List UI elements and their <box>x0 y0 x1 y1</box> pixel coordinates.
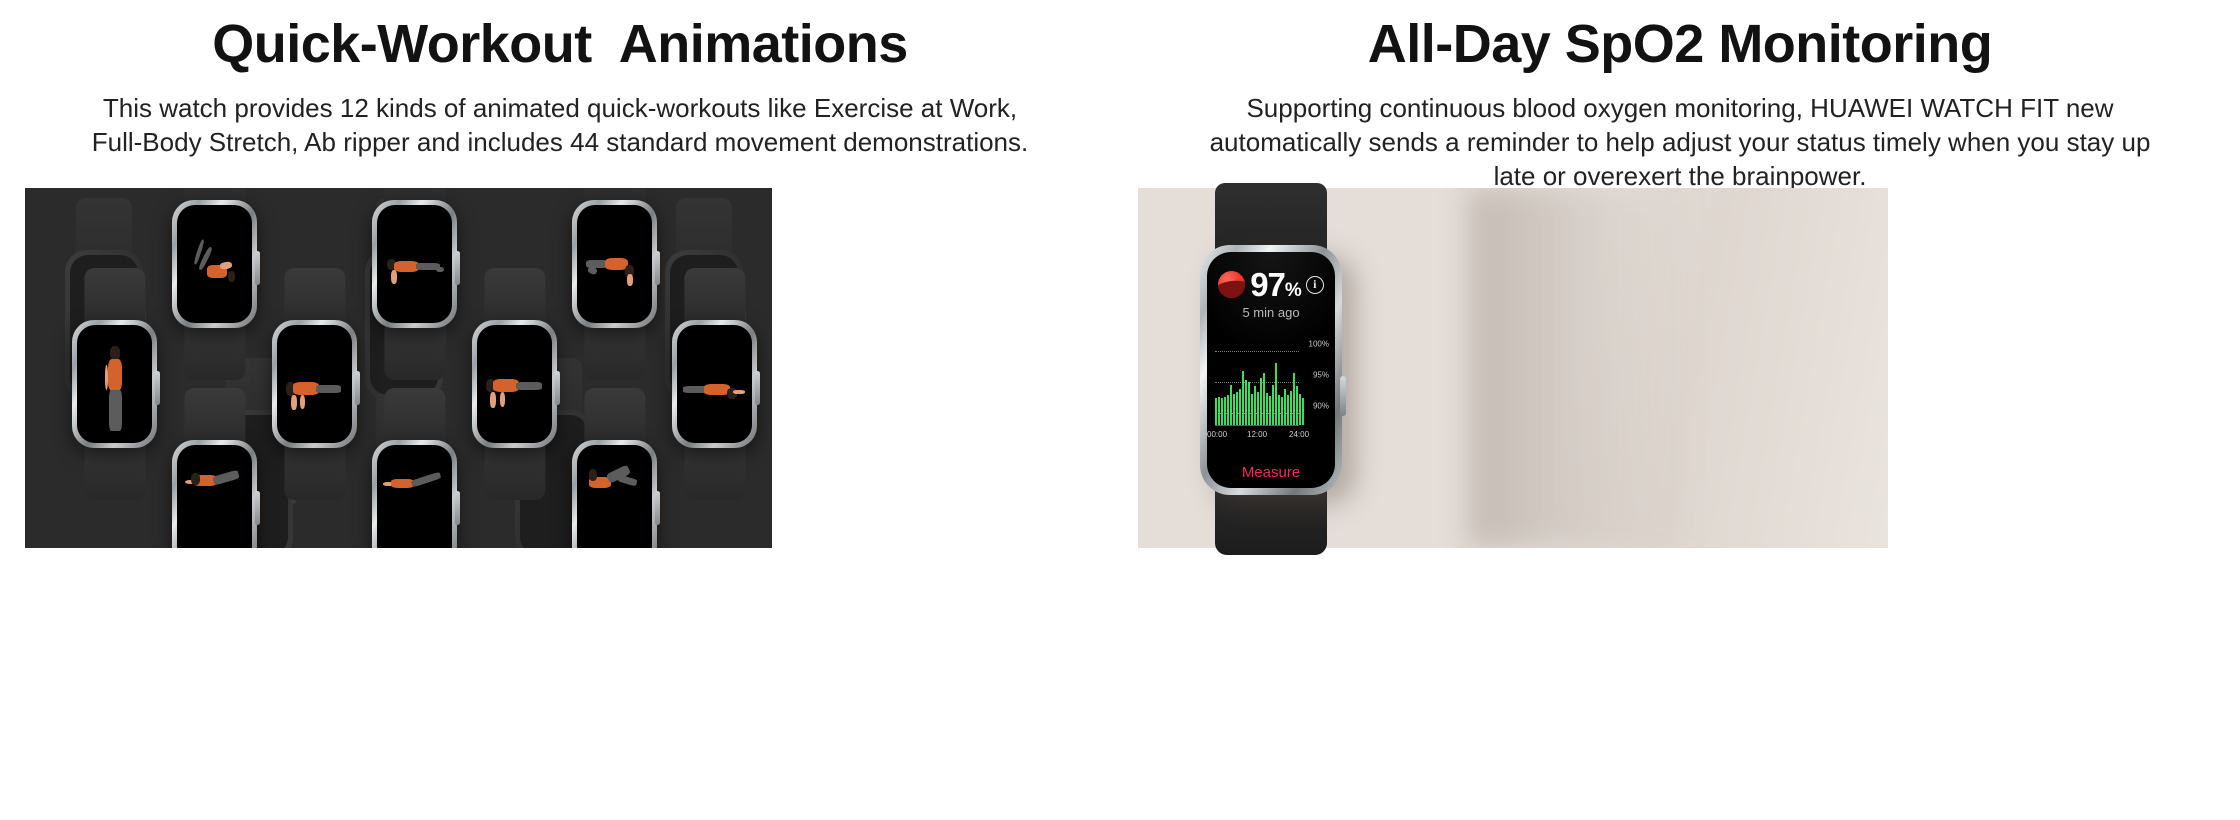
workout-watch-leg-lift <box>372 440 457 548</box>
spo2-bars <box>1215 343 1304 425</box>
workout-watch-push-up-alt <box>472 320 557 448</box>
workout-watch-sit-up <box>172 440 257 548</box>
workout-watch-plank-side <box>672 320 757 448</box>
workout-watch-leg-raise <box>172 200 257 328</box>
ytick-label-100: 100% <box>1309 340 1329 349</box>
spo2-bar <box>1296 386 1298 425</box>
spo2-bar <box>1236 392 1238 425</box>
watch-screen: 97% i 5 min ago 100% 95% 90% <box>1207 252 1335 488</box>
spo2-bar <box>1251 394 1253 425</box>
spo2-bar <box>1272 385 1274 425</box>
watch-drop-shadow <box>1468 188 1698 548</box>
spo2-history-chart: 100% 95% 90% <box>1215 344 1329 426</box>
spo2-bar <box>1257 392 1259 425</box>
spo2-number: 97 <box>1250 266 1285 303</box>
feature-comparison-page: Quick-Workout Animations This watch prov… <box>0 0 2240 820</box>
xtick-label-0: 00:00 <box>1207 430 1227 439</box>
spo2-bar <box>1293 373 1295 425</box>
xtick-label-24: 24:00 <box>1289 430 1309 439</box>
spo2-bar <box>1302 398 1304 425</box>
spo2-bar <box>1221 398 1223 425</box>
blood-drop-icon <box>1218 271 1245 298</box>
last-measured-label: 5 min ago <box>1217 305 1325 320</box>
left-headline: Quick-Workout Animations <box>0 0 1120 73</box>
spo2-bar <box>1281 397 1283 425</box>
spo2-bar <box>1266 393 1268 425</box>
spo2-bar <box>1248 382 1250 425</box>
spo2-bar <box>1242 371 1244 425</box>
chart-baseline <box>1215 425 1299 426</box>
chart-x-axis: 00:00 12:00 24:00 <box>1207 430 1329 442</box>
right-subcopy: Supporting continuous blood oxygen monit… <box>1200 91 2160 193</box>
ytick-label-90: 90% <box>1313 402 1329 411</box>
spo2-bar <box>1287 395 1289 425</box>
measure-button[interactable]: Measure <box>1207 464 1335 481</box>
spo2-bar <box>1263 373 1265 425</box>
watch-bezel: 97% i 5 min ago 100% 95% 90% <box>1200 245 1342 495</box>
spo2-bar <box>1218 397 1220 425</box>
spo2-bar <box>1278 395 1280 425</box>
spo2-bar <box>1215 398 1217 425</box>
spo2-bar <box>1230 385 1232 425</box>
xtick-label-12: 12:00 <box>1247 430 1267 439</box>
workout-watch-push-up <box>272 320 357 448</box>
spo2-bar <box>1245 380 1247 425</box>
quick-workout-watch-grid-image <box>25 188 772 548</box>
spo2-bar <box>1284 389 1286 425</box>
spo2-bar <box>1299 394 1301 425</box>
spo2-bar <box>1275 363 1277 425</box>
spo2-bar <box>1224 397 1226 425</box>
spo2-bar <box>1260 378 1262 425</box>
spo2-bar <box>1290 391 1292 425</box>
info-icon[interactable]: i <box>1306 276 1324 294</box>
huawei-watch-fit-device: 97% i 5 min ago 100% 95% 90% <box>1200 183 1342 555</box>
watch-side-button[interactable] <box>1340 376 1346 416</box>
spo2-bar <box>1254 386 1256 425</box>
spo2-watch-face: 97% i 5 min ago 100% 95% 90% <box>1207 252 1335 488</box>
workout-watch-standing <box>72 320 157 448</box>
spo2-reading: 97% <box>1250 268 1301 301</box>
workout-watch-mountain-climber <box>572 200 657 328</box>
right-headline: All-Day SpO2 Monitoring <box>1120 0 2240 73</box>
workout-watch-plank <box>372 200 457 328</box>
left-subcopy: This watch provides 12 kinds of animated… <box>80 91 1040 159</box>
workout-watch-crunch <box>572 440 657 548</box>
spo2-bar <box>1269 396 1271 425</box>
spo2-bar <box>1239 389 1241 425</box>
left-feature-section: Quick-Workout Animations This watch prov… <box>0 0 1120 820</box>
spo2-bar <box>1233 394 1235 425</box>
spo2-percent-sign: % <box>1285 280 1301 301</box>
ytick-label-95: 95% <box>1313 371 1329 380</box>
spo2-bar <box>1227 395 1229 425</box>
